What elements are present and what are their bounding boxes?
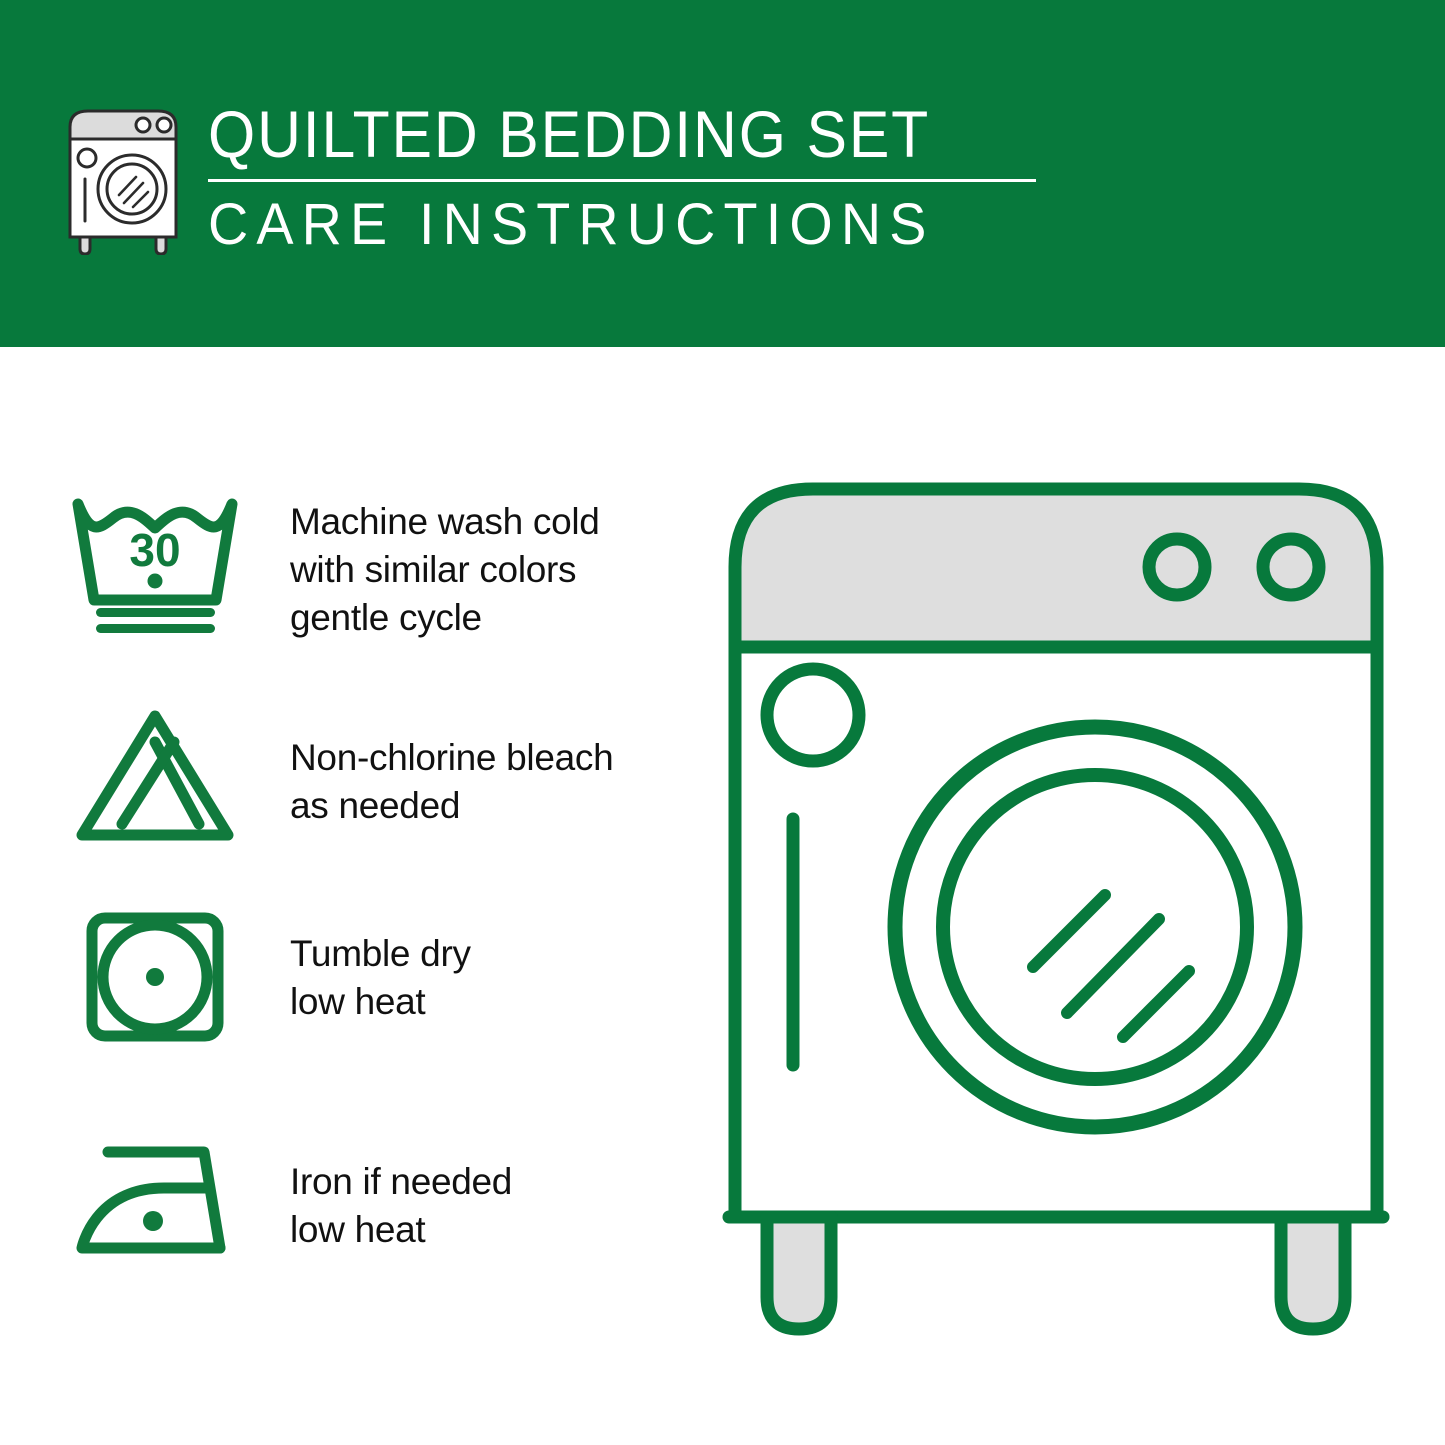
header-divider [208,179,1036,182]
care-text-line: Machine wash cold [290,498,710,546]
non-chlorine-bleach-triangle-icon [68,702,243,852]
care-text-line: Non-chlorine bleach [290,734,710,782]
header-text-block: QUILTED BEDDING SET CARE INSTRUCTIONS [208,95,1048,260]
wash-basin-30-gentle-icon: 30 [68,488,243,638]
care-text-wash: Machine wash cold with similar colors ge… [290,498,710,642]
control-panel [735,489,1377,647]
header-band: QUILTED BEDDING SET CARE INSTRUCTIONS [0,0,1445,347]
care-text-line: as needed [290,782,710,830]
care-row-iron: Iron if needed low heat [60,1112,700,1322]
care-text-dry: Tumble dry low heat [290,930,710,1026]
care-text-line: low heat [290,1206,710,1254]
care-instructions-page: QUILTED BEDDING SET CARE INSTRUCTIONS 30 [0,0,1445,1445]
care-row-dry: Tumble dry low heat [60,902,700,1112]
washing-machine-icon [60,103,192,255]
iron-low-heat-icon [68,1126,243,1276]
care-text-iron: Iron if needed low heat [290,1158,710,1254]
leg-left [767,1217,831,1329]
tumble-dry-low-heat-icon [68,902,243,1052]
care-text-line: with similar colors [290,546,710,594]
leg-right [1281,1217,1345,1329]
care-row-wash: 30 Machine wash cold with similar colors… [60,482,700,692]
care-text-line: Iron if needed [290,1158,710,1206]
care-text-line: gentle cycle [290,594,710,642]
care-instruction-list: 30 Machine wash cold with similar colors… [60,482,700,1322]
body-area: 30 Machine wash cold with similar colors… [0,347,1445,1445]
care-text-line: Tumble dry [290,930,710,978]
page-subtitle: CARE INSTRUCTIONS [208,190,1014,260]
page-title: QUILTED BEDDING SET [208,95,981,173]
header-inner: QUILTED BEDDING SET CARE INSTRUCTIONS [60,95,990,265]
care-row-bleach: Non-chlorine bleach as needed [60,692,700,902]
care-text-line: low heat [290,978,710,1026]
wash-temperature-label: 30 [129,524,180,576]
front-load-washing-machine-illustration [715,467,1415,1357]
care-text-bleach: Non-chlorine bleach as needed [290,734,710,830]
